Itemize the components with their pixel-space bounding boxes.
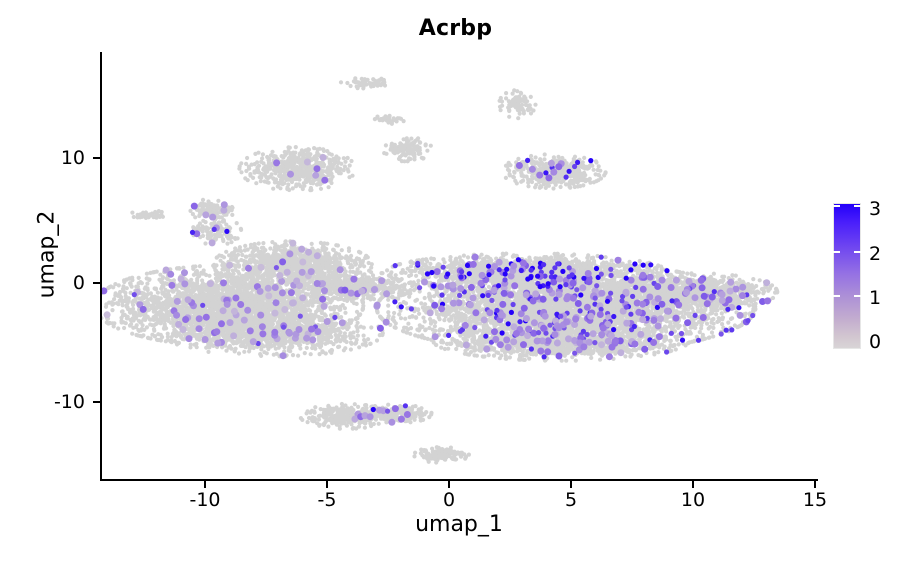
background-points <box>102 76 779 464</box>
x-tick-5 <box>814 481 816 488</box>
page-title: Acrbp <box>0 16 911 41</box>
scatter-points <box>102 52 820 481</box>
x-tick-1 <box>326 481 328 488</box>
umap-feature-plot-figure: Acrbp -10 -5 0 5 10 15 -10 0 10 umap_1 u… <box>0 0 911 562</box>
y-tick-2 <box>93 157 100 159</box>
colorbar-label-3: 3 <box>869 200 881 219</box>
x-tick-4 <box>692 481 694 488</box>
colorbar-label-0: 0 <box>869 333 881 352</box>
x-axis-label: umap_1 <box>100 512 818 537</box>
x-tick-label-0: -10 <box>170 489 240 511</box>
colorbar-tick-2-right <box>854 251 861 253</box>
x-tick-label-3: 5 <box>536 489 606 511</box>
x-tick-label-5: 15 <box>780 489 850 511</box>
colorbar-tick-3-left <box>833 205 840 207</box>
colorbar-label-2: 2 <box>869 245 881 264</box>
colorbar-legend: 3 2 1 0 <box>833 203 861 349</box>
colorbar-tick-1-right <box>854 295 861 297</box>
colorbar-tick-1-left <box>833 295 840 297</box>
colorbar-tick-3-right <box>854 205 861 207</box>
colorbar-tick-2-left <box>833 251 840 253</box>
x-tick-2 <box>448 481 450 488</box>
colorbar-label-1: 1 <box>869 289 881 308</box>
x-tick-0 <box>204 481 206 488</box>
y-tick-0 <box>93 401 100 403</box>
y-tick-1 <box>93 282 100 284</box>
x-tick-label-4: 10 <box>658 489 728 511</box>
x-tick-label-2: 0 <box>414 489 484 511</box>
x-tick-label-1: -5 <box>292 489 362 511</box>
colorbar-gradient <box>833 203 861 349</box>
x-tick-3 <box>570 481 572 488</box>
y-axis-label: umap_2 <box>35 105 60 405</box>
plot-area <box>100 52 818 481</box>
